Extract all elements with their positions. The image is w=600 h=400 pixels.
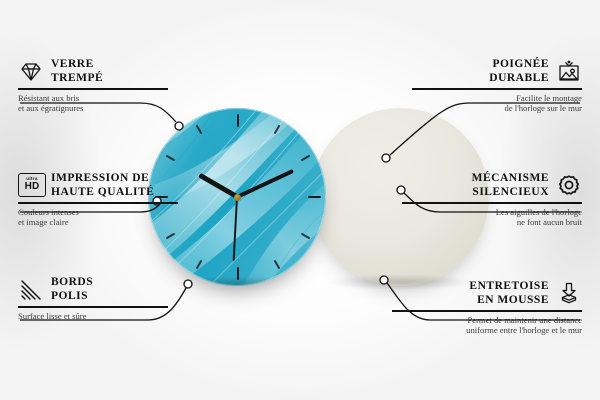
callout-title: POIGNÉE DURABLE (489, 58, 549, 85)
callout-description: Résistant aux bris et aux égratignures (18, 93, 168, 114)
callout-bords-polis: BORDS POLIS Surface lisse et sûre (18, 276, 168, 321)
infographic-canvas: VERRE TREMPÉ Résistant aux bris et aux é… (0, 0, 600, 400)
callout-mecanisme-silencieux: MÉCANISME SILENCIEUX Les aiguilles de l'… (402, 172, 582, 228)
callout-rule (412, 88, 582, 90)
gear-icon (556, 173, 582, 199)
callout-rule (392, 310, 582, 312)
leader-node-poignee (382, 154, 390, 162)
callout-description: Couleurs intenses et image claire (18, 207, 178, 228)
leader-node-bords-polis (184, 280, 192, 288)
callout-header: ultra HD IMPRESSION DE HAUTE QUALITÉ (18, 172, 178, 199)
callout-verre-trempe: VERRE TREMPÉ Résistant aux bris et aux é… (18, 58, 168, 114)
callout-description: Les aiguilles de l'horloge ne font aucun… (402, 207, 582, 228)
foam-spacer-icon (556, 281, 582, 307)
callout-entretoise-en-mousse: ENTRETOISE EN MOUSSE Permet de maintenir… (392, 280, 582, 336)
callout-rule (18, 88, 168, 90)
callout-description: Surface lisse et sûre (18, 311, 168, 322)
callout-title: ENTRETOISE EN MOUSSE (469, 280, 549, 307)
callout-description: Facilite le montage de l'horloge sur le … (412, 93, 582, 114)
callout-title: IMPRESSION DE HAUTE QUALITÉ (51, 172, 154, 199)
callout-title: MÉCANISME SILENCIEUX (472, 172, 549, 199)
ultra-hd-badge: ultra HD (18, 173, 46, 197)
callout-header: MÉCANISME SILENCIEUX (402, 172, 582, 199)
callout-rule (402, 202, 582, 204)
callout-header: ENTRETOISE EN MOUSSE (392, 280, 582, 307)
callout-rule (18, 202, 178, 204)
polished-edges-icon (18, 277, 44, 303)
callout-impression-haute-qualite: ultra HD IMPRESSION DE HAUTE QUALITÉ Cou… (18, 172, 178, 228)
diamond-icon (18, 59, 44, 85)
callout-rule (18, 306, 168, 308)
callout-description: Permet de maintenir une distance uniform… (392, 315, 582, 336)
ultra-hd-icon: ultra HD (18, 173, 44, 199)
leader-node-verre-trempe (175, 122, 183, 130)
callout-header: BORDS POLIS (18, 276, 168, 303)
callout-poignee-durable: POIGNÉE DURABLE Facilite le montage de l… (412, 58, 582, 114)
leader-node-entretoise (380, 276, 388, 284)
ultra-hd-main-text: HD (25, 182, 40, 192)
picture-frame-icon (556, 59, 582, 85)
callout-header: POIGNÉE DURABLE (412, 58, 582, 85)
callout-header: VERRE TREMPÉ (18, 58, 168, 85)
callout-title: VERRE TREMPÉ (51, 58, 103, 85)
callout-title: BORDS POLIS (51, 276, 93, 303)
